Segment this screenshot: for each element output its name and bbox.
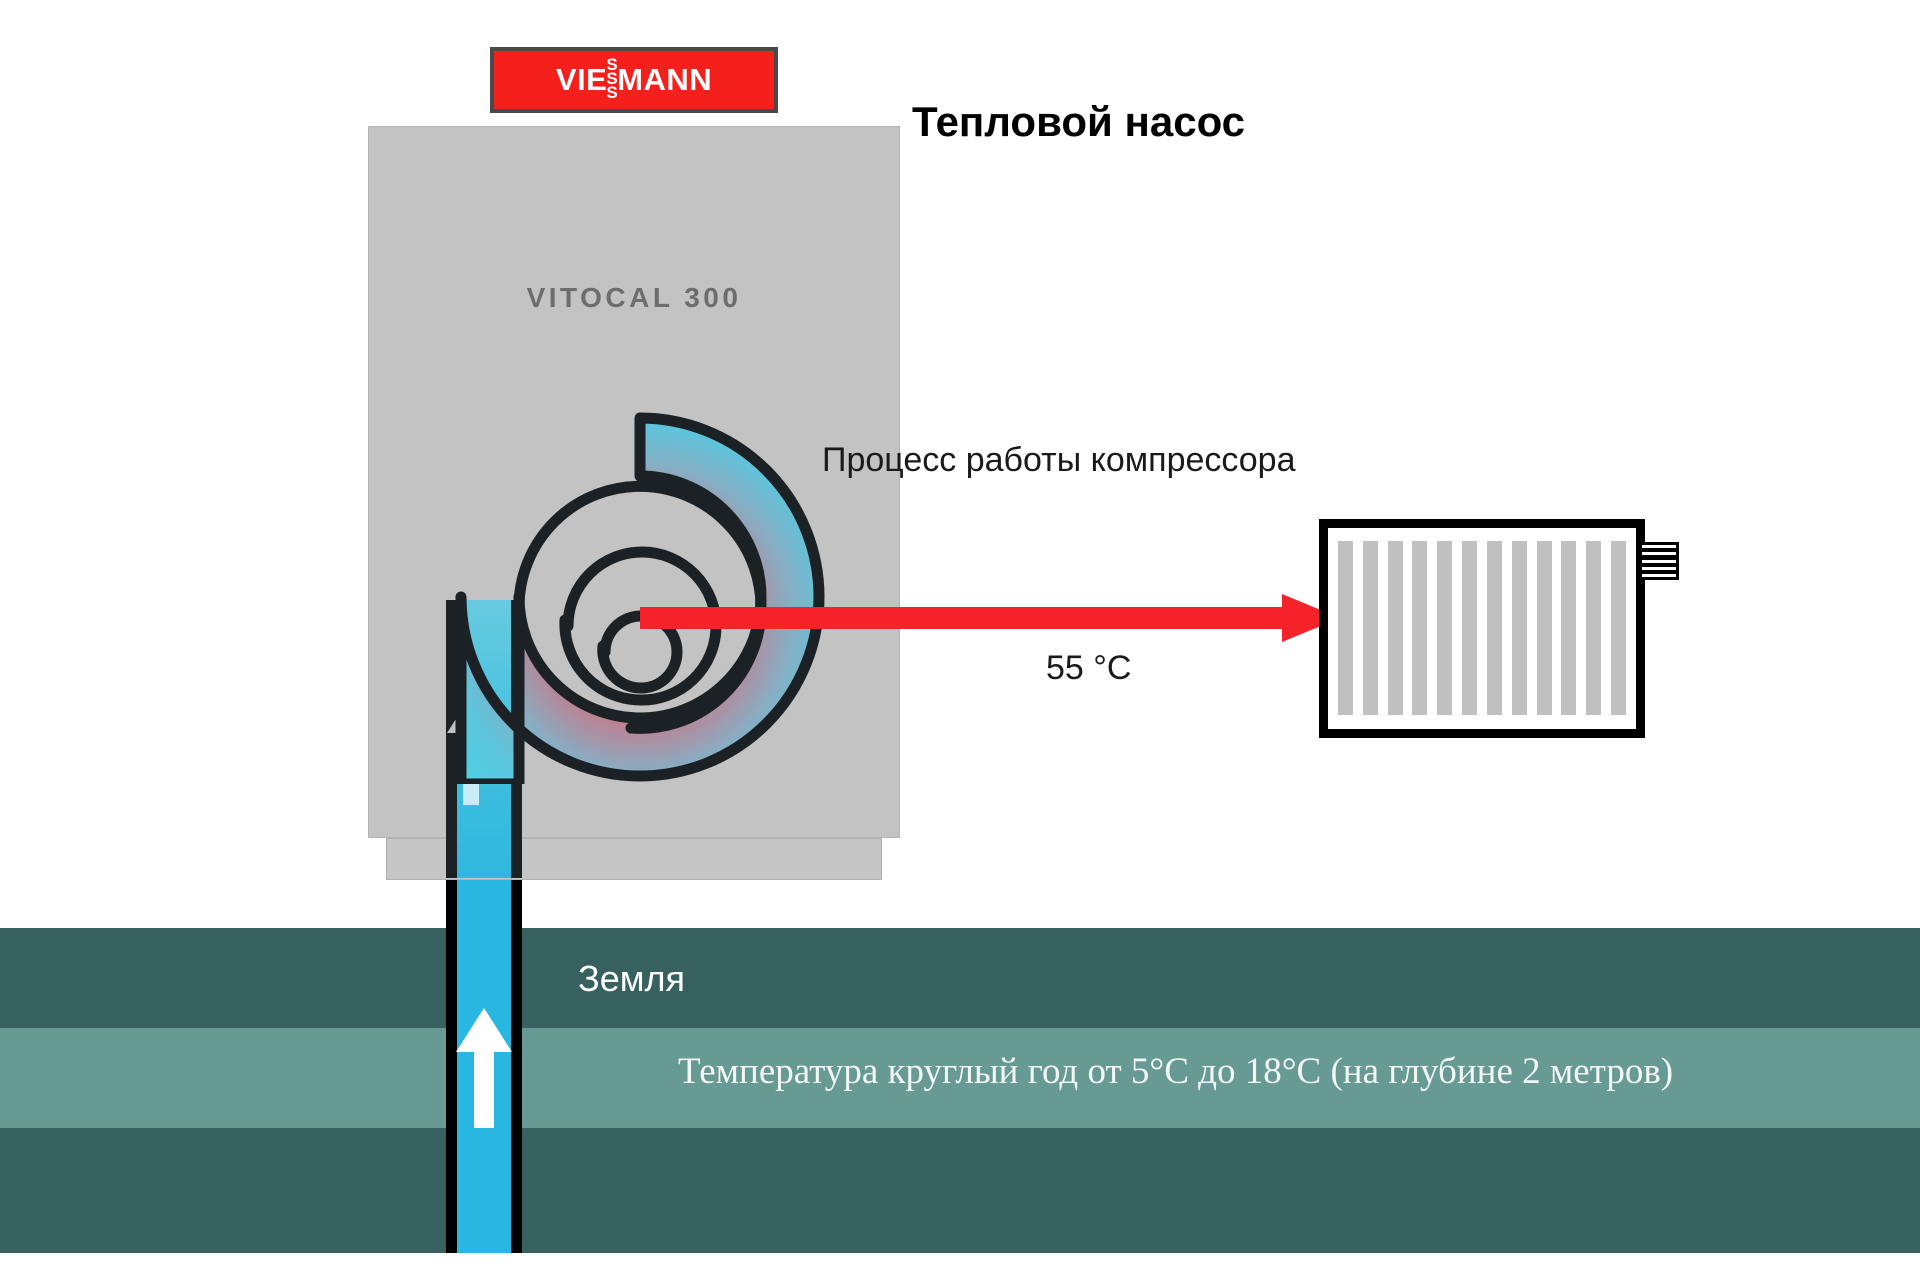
page-title: Тепловой насос	[912, 98, 1245, 146]
logo-stacked-s: S S S	[606, 58, 618, 101]
radiator-fin	[1363, 541, 1378, 715]
right-arrow-icon	[640, 592, 1340, 644]
radiator-fin	[1338, 541, 1353, 715]
radiator-fins	[1338, 541, 1626, 715]
ground-label: Земля	[578, 958, 685, 1000]
logo-stacked-s-3: S	[606, 86, 618, 100]
radiator-fin	[1437, 541, 1452, 715]
ground-layer-bottom	[0, 1128, 1920, 1253]
valve-stripe	[1642, 552, 1676, 555]
valve-stripe	[1642, 574, 1676, 577]
diagram-canvas: VITOCAL 300	[0, 0, 1920, 1280]
compressor-process-label: Процесс работы компрессора	[822, 441, 1296, 480]
radiator-fin	[1561, 541, 1576, 715]
valve-stripe	[1642, 560, 1676, 563]
radiator-fin	[1586, 541, 1601, 715]
logo-text-part-2: MANN	[617, 64, 712, 95]
radiator-valve-icon	[1639, 542, 1679, 580]
valve-stripe	[1642, 545, 1676, 548]
radiator-fin	[1512, 541, 1527, 715]
logo-text-part-1: VIE	[556, 64, 607, 95]
borehole-pipe	[446, 878, 522, 1253]
viessmann-logo: VIE S S S MANN	[490, 47, 778, 113]
radiator-fin	[1611, 541, 1626, 715]
viessmann-wordmark: VIE S S S MANN	[556, 59, 712, 102]
radiator-icon	[1319, 519, 1667, 738]
valve-stripe	[1642, 567, 1676, 570]
radiator-fin	[1412, 541, 1427, 715]
flow-temperature-label: 55 °C	[1046, 649, 1131, 688]
radiator-fin	[1462, 541, 1477, 715]
ground-temperature-label: Температура круглый год от 5°C до 18°C (…	[678, 1050, 1673, 1093]
radiator-fin	[1388, 541, 1403, 715]
unit-model-label: VITOCAL 300	[369, 282, 899, 314]
radiator-fin	[1537, 541, 1552, 715]
radiator-fin	[1487, 541, 1502, 715]
ground-layer-top	[0, 928, 1920, 1028]
